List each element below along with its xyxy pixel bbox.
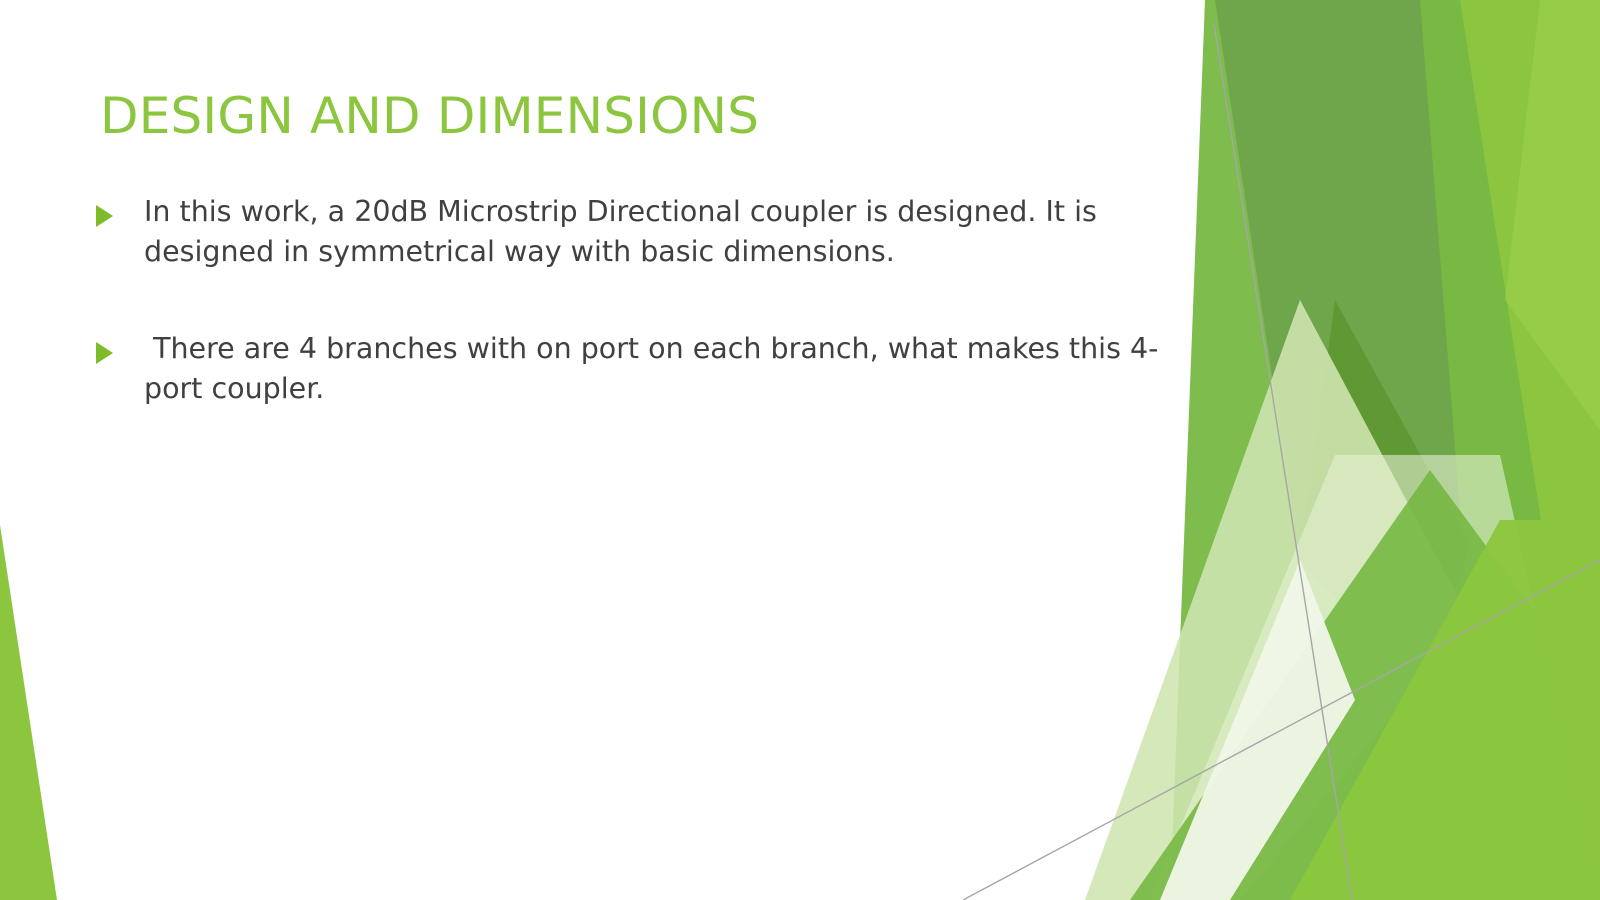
right-bright-green-field [1220, 0, 1600, 900]
list-item: There are 4 branches with on port on eac… [96, 329, 1196, 410]
bright-green-bottom-overlay [1290, 520, 1600, 900]
mid-green-lower-sweep [1130, 470, 1600, 900]
right-mid-green-wedge [1170, 0, 1600, 900]
light-green-right-highlight [1505, 0, 1600, 430]
left-edge-green-sliver [0, 525, 57, 900]
bullet-text: There are 4 branches with on port on eac… [144, 329, 1196, 410]
triangle-right-bullet-icon [96, 329, 144, 364]
page-title: DESIGN AND DIMENSIONS [100, 88, 1160, 144]
slide: DESIGN AND DIMENSIONS In this work, a 20… [0, 0, 1600, 900]
triangle-right-bullet-icon [96, 192, 144, 227]
pale-green-left-sliver [1160, 560, 1355, 900]
hairline-steep-diagonal [1214, 24, 1352, 900]
hairline-shallow-diagonal [963, 560, 1600, 900]
dark-green-shard [1300, 300, 1470, 690]
very-pale-green-wash [1150, 455, 1600, 900]
dark-olive-top-facet [1215, 0, 1470, 640]
bullet-text: In this work, a 20dB Microstrip Directio… [144, 192, 1196, 273]
body-content: In this work, a 20dB Microstrip Directio… [96, 192, 1196, 410]
list-item: In this work, a 20dB Microstrip Directio… [96, 192, 1196, 273]
